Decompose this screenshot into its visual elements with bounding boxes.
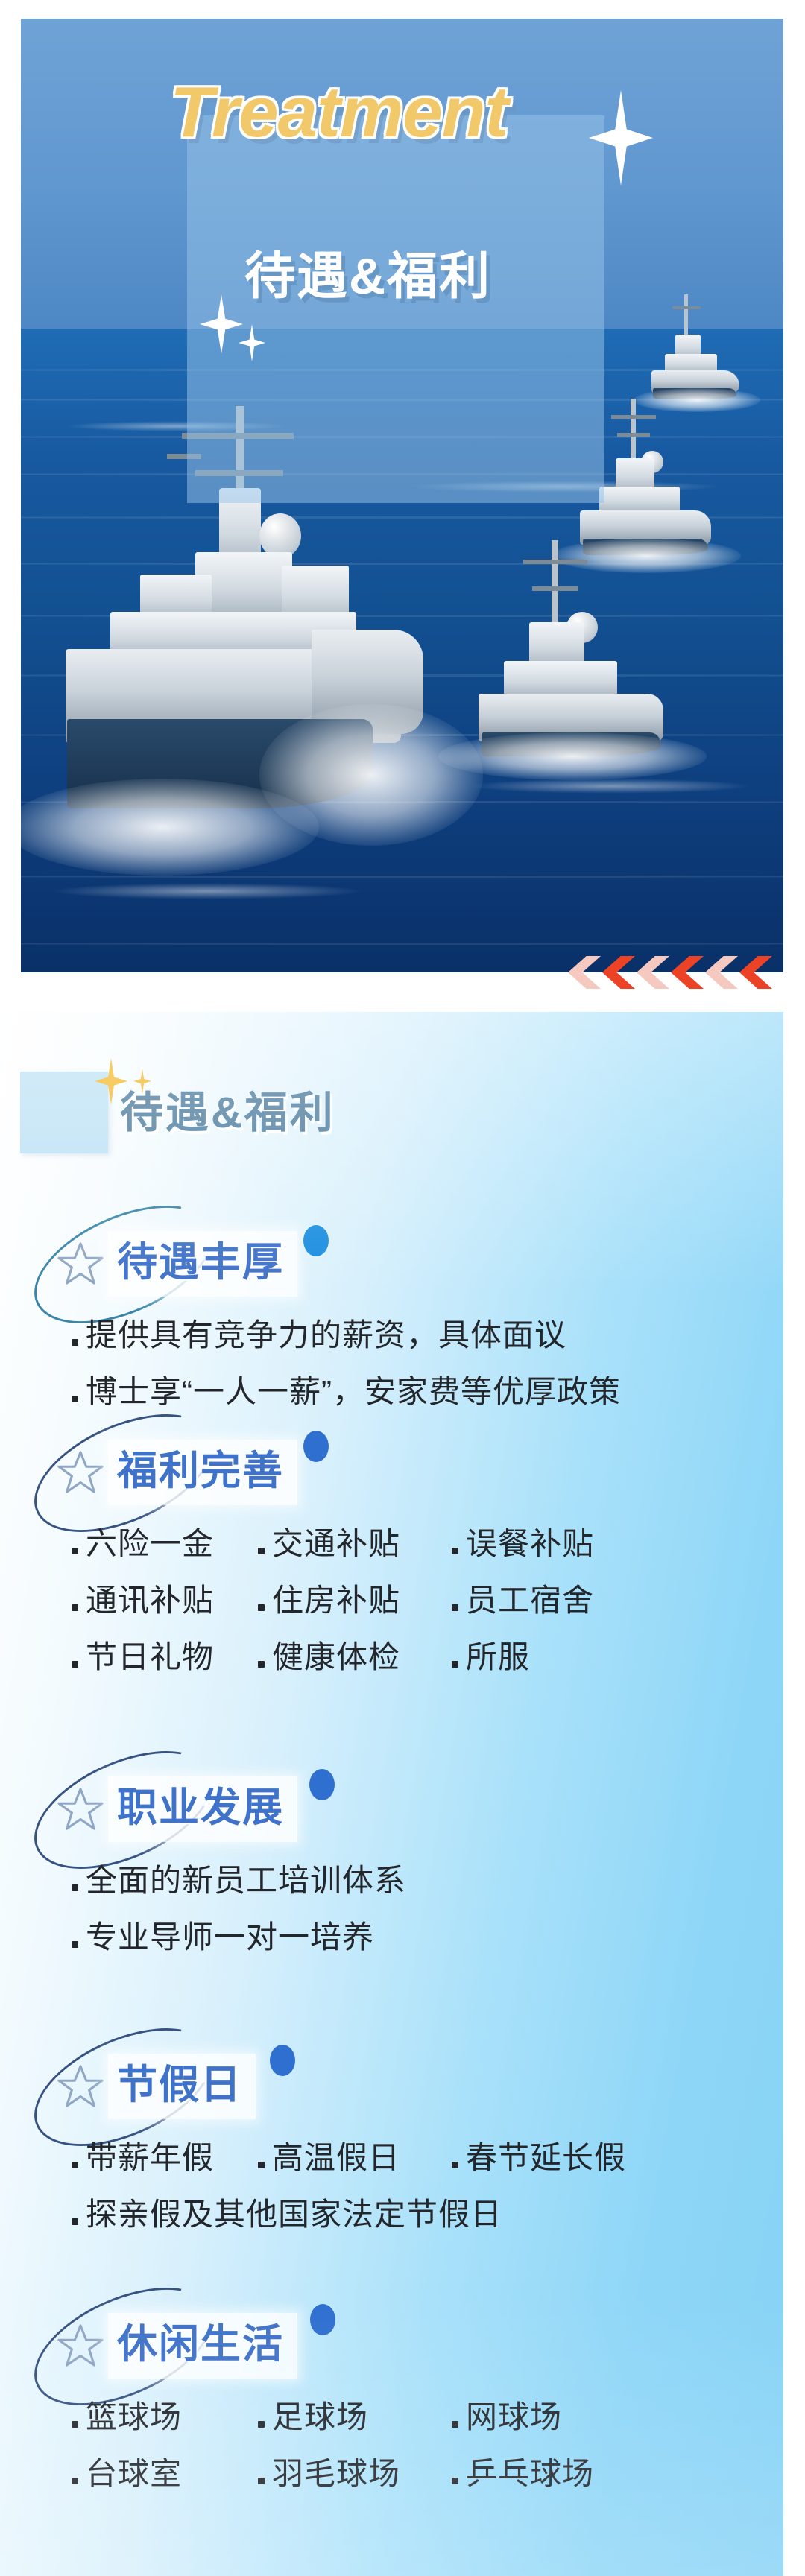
group-label-box: 福利完善	[108, 1440, 297, 1505]
hero-title-plate	[187, 115, 604, 503]
bullet-text: 高温假日	[272, 2130, 400, 2186]
list-item: 专业导师一对一培养	[72, 1909, 783, 1966]
group-treatment: 待遇丰厚 提供具有竞争力的薪资，具体面议 博士享“一人一薪”，安家费等优厚政策	[0, 1212, 783, 1420]
chevron-left-icon	[637, 956, 669, 989]
bullet-text: 交通补贴	[272, 1516, 400, 1572]
group-label: 福利完善	[117, 1449, 284, 1493]
group-leisure: 休闲生活 篮球场 足球场 网球场 台球室 羽毛球场 乒乓球场	[0, 2294, 783, 2502]
group-label: 节假日	[117, 2063, 242, 2107]
bullet-list: 提供具有竞争力的薪资，具体面议 博士享“一人一薪”，安家费等优厚政策	[0, 1307, 783, 1420]
chevron-left-icon	[568, 956, 601, 989]
star-icon	[57, 1787, 104, 1832]
group-benefits: 福利完善 六险一金 交通补贴 误餐补贴 通讯补贴 住房补贴 员工宿舍 节日礼物 …	[0, 1420, 783, 1686]
bullet-text: 羽毛球场	[272, 2446, 400, 2502]
bullet-text: 健康体检	[272, 1629, 400, 1686]
chevron-decor	[568, 956, 784, 989]
bullet-grid: 篮球场 足球场 网球场 台球室 羽毛球场 乒乓球场	[0, 2389, 783, 2502]
accent-dot	[303, 1431, 329, 1462]
chevron-left-icon	[602, 956, 635, 989]
ship-far	[645, 294, 747, 405]
group-holidays: 节假日 带薪年假 高温假日 春节延长假 探亲假及其他国家法定节假日	[0, 2034, 783, 2243]
group-label-box: 休闲生活	[108, 2313, 297, 2379]
hero-banner: Treatment 待遇&福利	[21, 19, 783, 972]
bullet-text: 足球场	[272, 2389, 368, 2446]
list-row: 台球室 羽毛球场 乒乓球场	[72, 2446, 783, 2502]
list-item: 全面的新员工培训体系	[72, 1852, 783, 1909]
bullet-text: 全面的新员工培训体系	[86, 1852, 406, 1909]
star-icon	[57, 2323, 104, 2368]
bullet-text: 带薪年假	[86, 2130, 214, 2186]
ship-near	[468, 540, 677, 786]
page-title: 待遇&福利	[120, 1077, 335, 1140]
bullet-text: 春节延长假	[466, 2130, 626, 2186]
hero-title-cn: 待遇&福利	[244, 235, 662, 308]
chevron-left-icon	[705, 956, 738, 989]
bullet-text: 博士享“一人一薪”，安家费等优厚政策	[86, 1364, 621, 1420]
list-item: 探亲假及其他国家法定节假日	[72, 2186, 783, 2243]
group-label-box: 待遇丰厚	[108, 1231, 297, 1297]
hero-sparkle-small-b	[239, 324, 265, 361]
bullet-text: 所服	[466, 1629, 530, 1686]
bullet-text: 六险一金	[86, 1516, 214, 1572]
content-panel: 待遇&福利 待遇丰厚 提供具有竞争力的薪资，具体面议 博士享“一人一薪”，安家费…	[0, 1012, 783, 2576]
hero-sparkle-small-a	[200, 294, 243, 354]
group-label: 休闲生活	[117, 2322, 284, 2367]
hero-sparkle-large	[589, 90, 653, 186]
chevron-left-icon	[739, 956, 772, 989]
bullet-list: 全面的新员工培训体系 专业导师一对一培养	[0, 1852, 783, 1966]
group-label: 待遇丰厚	[117, 1240, 284, 1285]
group-career: 职业发展 全面的新员工培训体系 专业导师一对一培养	[0, 1757, 783, 1966]
bullet-text: 提供具有竞争力的薪资，具体面议	[86, 1307, 566, 1364]
chevron-left-icon	[671, 956, 704, 989]
bullet-text: 员工宿舍	[466, 1572, 594, 1629]
bullet-mixed: 带薪年假 高温假日 春节延长假 探亲假及其他国家法定节假日	[0, 2130, 783, 2243]
bullet-text: 节日礼物	[86, 1629, 214, 1686]
list-item: 提供具有竞争力的薪资，具体面议	[72, 1307, 783, 1364]
accent-dot	[310, 2304, 335, 2335]
list-row: 六险一金 交通补贴 误餐补贴	[72, 1516, 783, 1572]
bullet-text: 篮球场	[86, 2389, 182, 2446]
list-row: 通讯补贴 住房补贴 员工宿舍	[72, 1572, 783, 1629]
bullet-text: 通讯补贴	[86, 1572, 214, 1629]
list-row: 篮球场 足球场 网球场	[72, 2389, 783, 2446]
group-label-box: 职业发展	[108, 1776, 297, 1842]
section-heading: 待遇&福利	[20, 1058, 587, 1155]
star-icon	[57, 1241, 104, 1286]
list-row: 带薪年假 高温假日 春节延长假	[72, 2130, 783, 2186]
accent-dot	[270, 2045, 295, 2076]
accent-dot	[309, 1769, 335, 1800]
bullet-grid: 六险一金 交通补贴 误餐补贴 通讯补贴 住房补贴 员工宿舍 节日礼物 健康体检 …	[0, 1516, 783, 1686]
list-row: 节日礼物 健康体检 所服	[72, 1629, 783, 1686]
bullet-text: 探亲假及其他国家法定节假日	[86, 2186, 502, 2243]
bullet-text: 专业导师一对一培养	[86, 1909, 374, 1966]
list-item: 博士享“一人一薪”，安家费等优厚政策	[72, 1364, 783, 1420]
bullet-text: 误餐补贴	[466, 1516, 594, 1572]
accent-dot	[303, 1225, 329, 1256]
bullet-text: 乒乓球场	[466, 2446, 594, 2502]
bullet-text: 台球室	[86, 2446, 182, 2502]
star-icon	[57, 1450, 104, 1495]
group-label-box: 节假日	[108, 2054, 256, 2119]
bullet-text: 住房补贴	[272, 1572, 400, 1629]
bullet-text: 网球场	[466, 2389, 562, 2446]
group-label: 职业发展	[117, 1785, 284, 1830]
star-icon	[57, 2064, 104, 2109]
